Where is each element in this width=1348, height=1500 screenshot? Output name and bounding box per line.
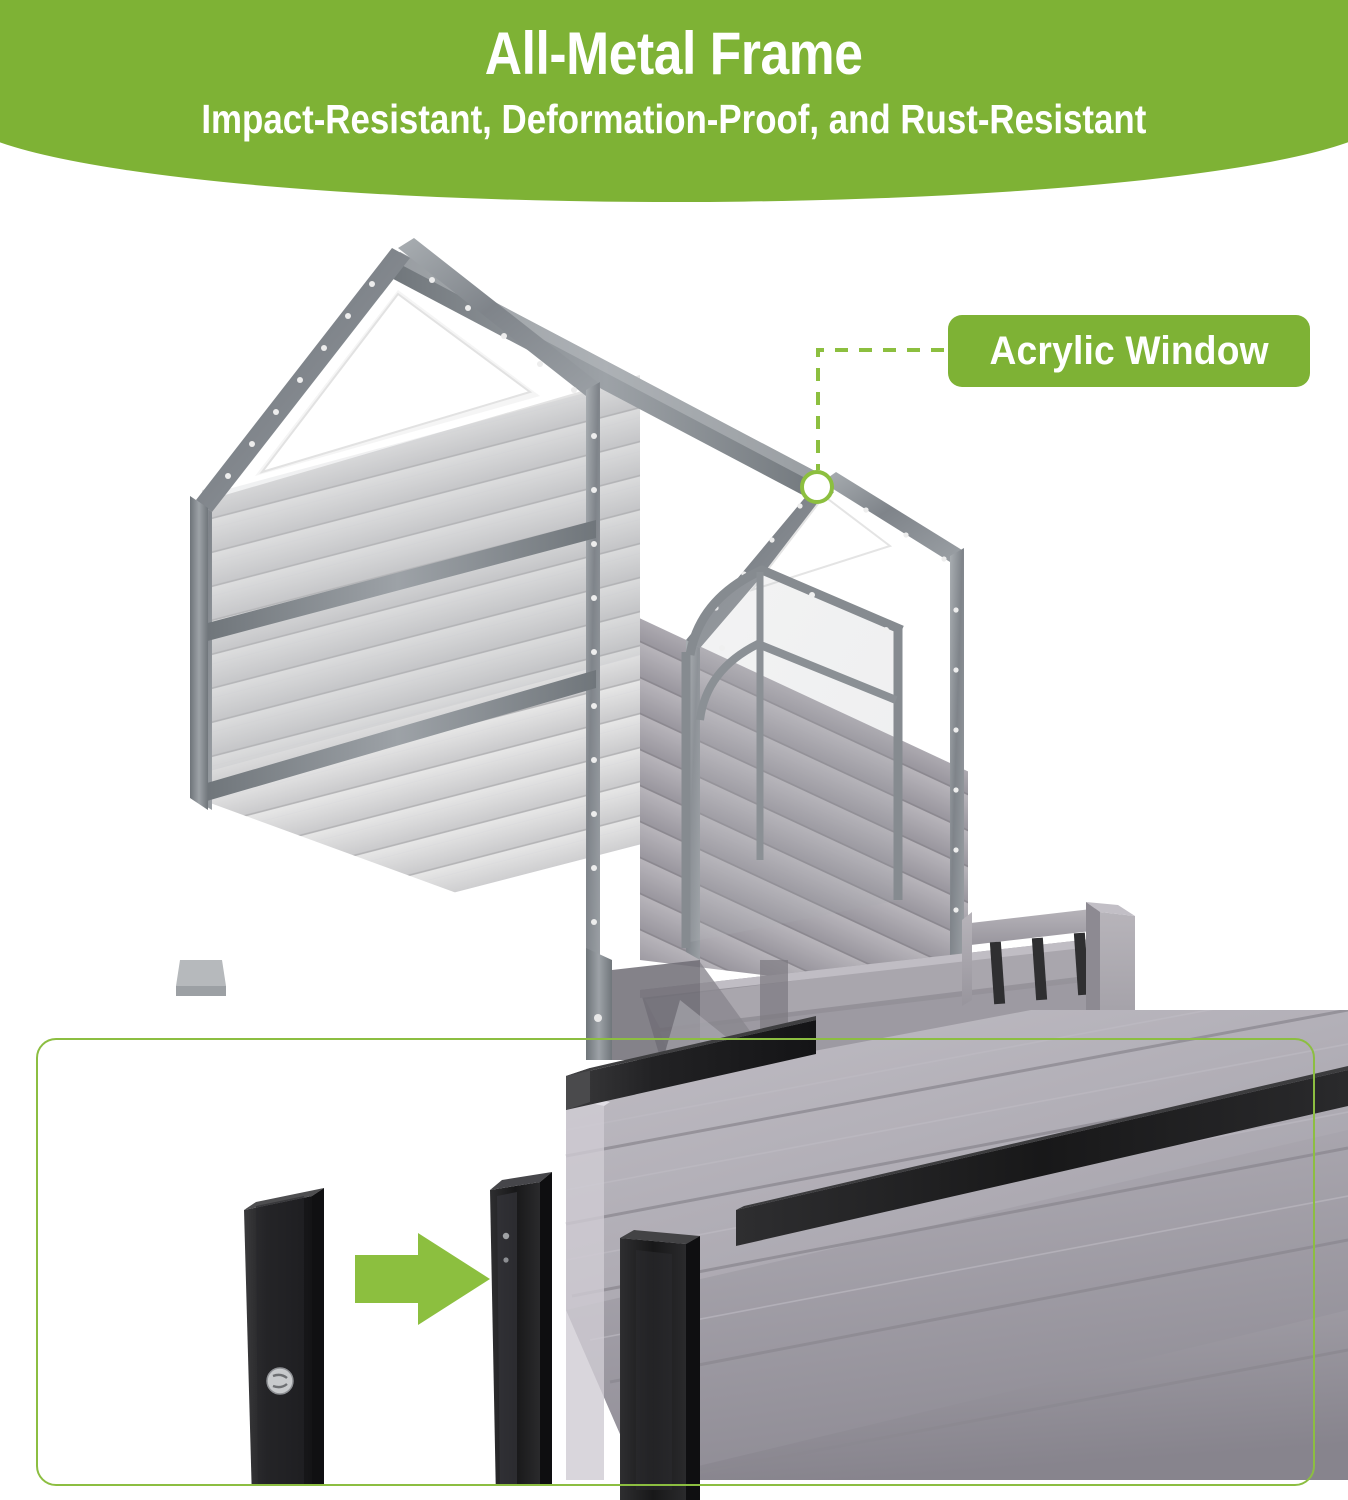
header-banner: All-Metal Frame Impact-Resistant, Deform… xyxy=(0,0,1348,202)
header-banner-content: All-Metal Frame Impact-Resistant, Deform… xyxy=(0,0,1348,202)
callout-acrylic-window[interactable]: Acrylic Window xyxy=(948,315,1310,387)
window-marker-dot xyxy=(800,470,834,504)
page-title: All-Metal Frame xyxy=(485,24,863,84)
page-subtitle: Impact-Resistant, Deformation-Proof, and… xyxy=(202,98,1147,141)
callout-label: Acrylic Window xyxy=(989,329,1268,374)
arched-door-frame xyxy=(686,570,902,948)
detail-panel-frame xyxy=(36,1038,1315,1486)
